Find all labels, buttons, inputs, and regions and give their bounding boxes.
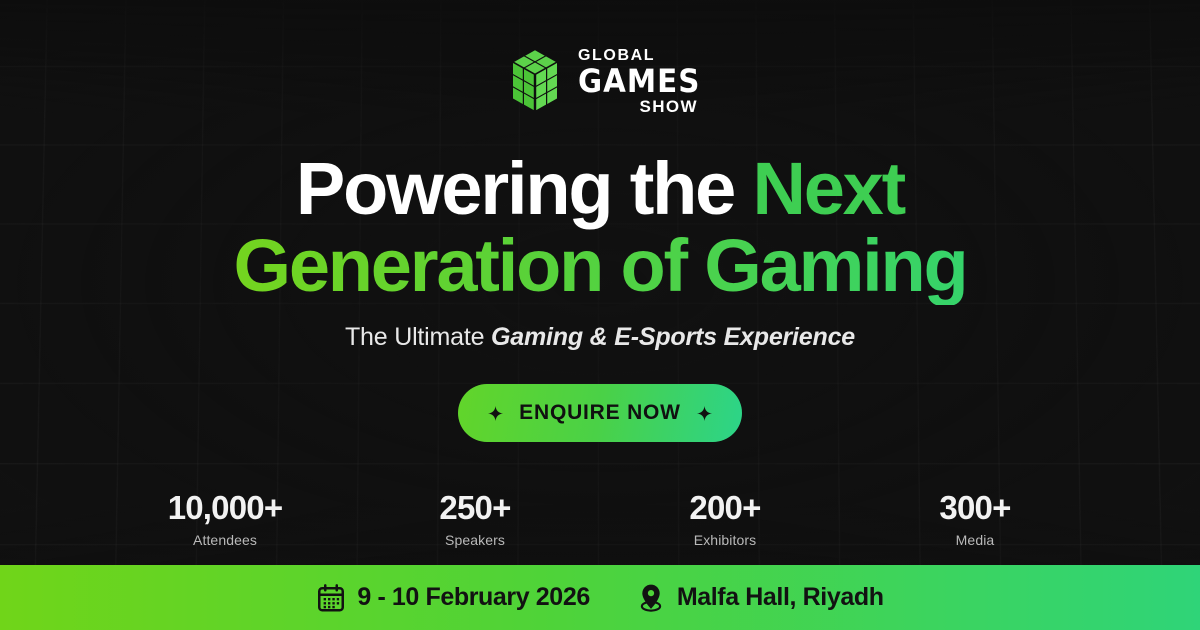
stat-value: 10,000+ (155, 490, 295, 526)
headline-text-accent: Next (752, 147, 904, 230)
subtitle: The Ultimate Gaming & E-Sports Experienc… (345, 323, 855, 352)
event-date-text: 9 - 10 February 2026 (357, 583, 589, 612)
event-details-bar: 9 - 10 February 2026 Malfa Hall, Riyadh (0, 565, 1200, 630)
cube-logo-icon (502, 49, 568, 115)
headline-text-white: Powering the (296, 147, 753, 230)
stat-label: Speakers (405, 532, 545, 548)
stats-row: 10,000+ Attendees 250+ Speakers 200+ Exh… (100, 490, 1100, 547)
logo-wordmark: GLOBAL GAMES SHOW (578, 48, 698, 115)
stat-speakers: 250+ Speakers (405, 490, 545, 547)
stat-label: Exhibitors (655, 532, 795, 548)
subtitle-emphasis: Gaming & E-Sports Experience (491, 323, 855, 351)
stat-media: 300+ Media (905, 490, 1045, 547)
event-promo-banner: GLOBAL GAMES SHOW Powering the Next Gene… (0, 0, 1200, 630)
headline: Powering the Next Generation of Gaming (233, 151, 966, 305)
sparkle-icon-left (488, 406, 503, 421)
logo-line-show: SHOW (578, 98, 698, 115)
brand-logo[interactable]: GLOBAL GAMES SHOW (502, 48, 698, 115)
event-location: Malfa Hall, Riyadh (636, 583, 884, 613)
stat-label: Attendees (155, 532, 295, 548)
headline-line-2: Generation of Gaming (233, 228, 966, 305)
event-date: 9 - 10 February 2026 (316, 583, 589, 613)
map-pin-icon (636, 583, 666, 613)
event-location-text: Malfa Hall, Riyadh (677, 583, 884, 612)
stat-value: 250+ (405, 490, 545, 526)
stat-label: Media (905, 532, 1045, 548)
calendar-icon (316, 583, 346, 613)
stat-exhibitors: 200+ Exhibitors (655, 490, 795, 547)
stat-value: 200+ (655, 490, 795, 526)
stat-value: 300+ (905, 490, 1045, 526)
cta-label: ENQUIRE NOW (519, 401, 681, 425)
banner-content: GLOBAL GAMES SHOW Powering the Next Gene… (0, 0, 1200, 565)
enquire-now-button[interactable]: ENQUIRE NOW (458, 384, 742, 442)
headline-line-1: Powering the Next (233, 151, 966, 228)
sparkle-icon-right (697, 406, 712, 421)
logo-line-games: GAMES (578, 66, 700, 96)
subtitle-regular: The Ultimate (345, 323, 491, 351)
stat-attendees: 10,000+ Attendees (155, 490, 295, 547)
